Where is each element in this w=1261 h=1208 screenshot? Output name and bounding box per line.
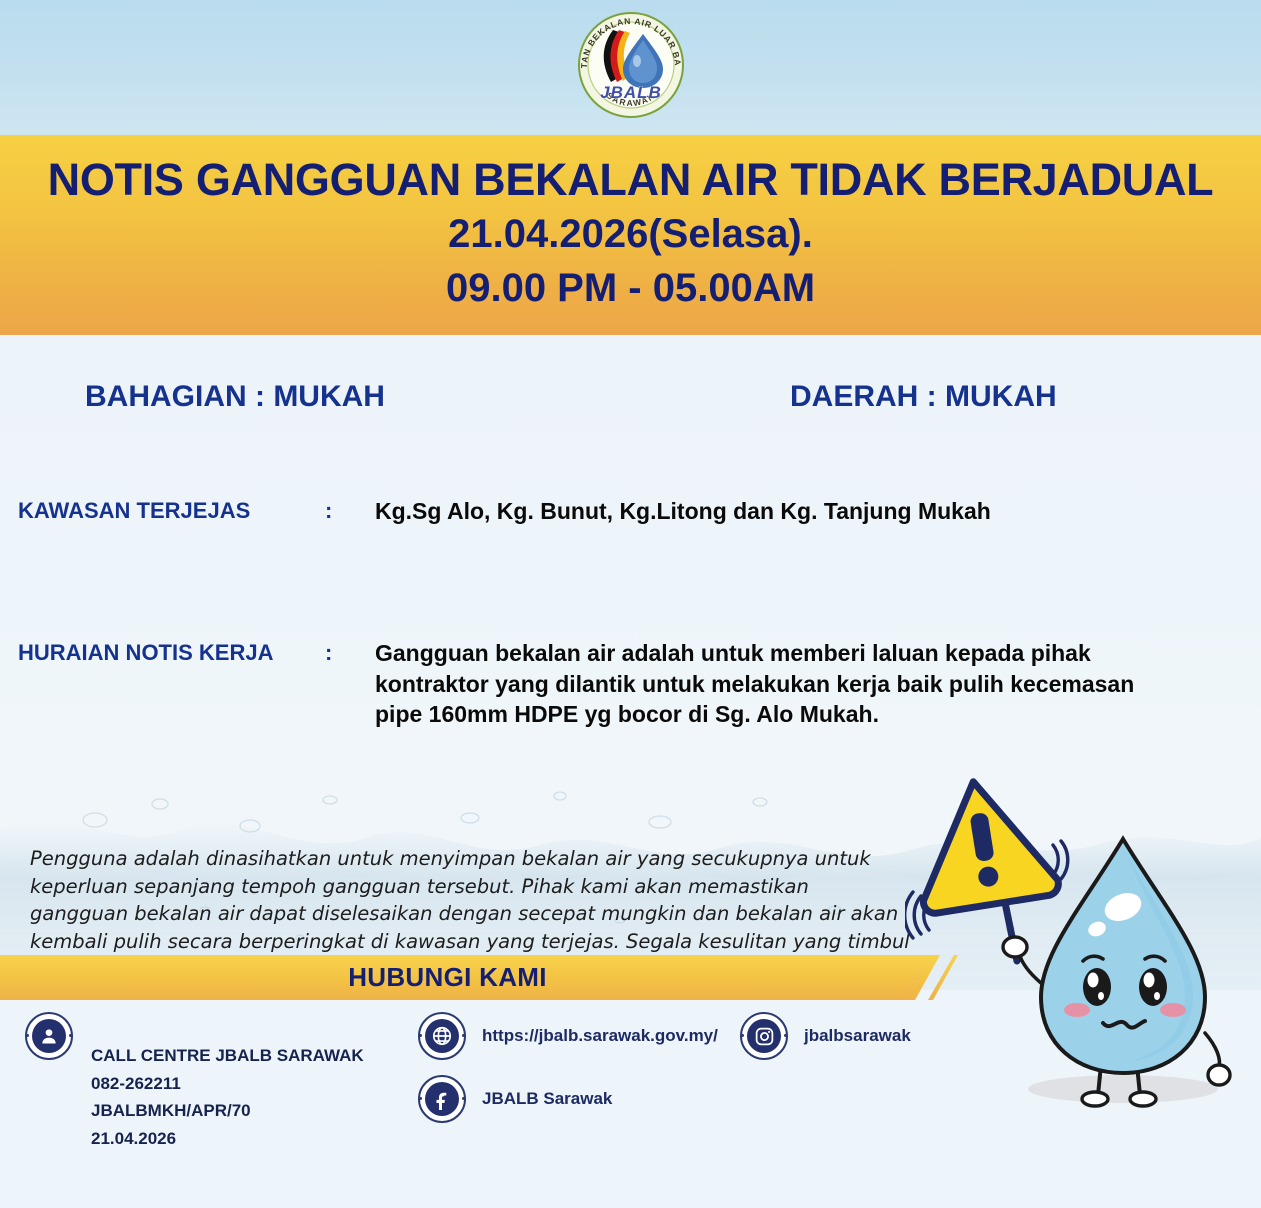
person-icon [25, 1012, 73, 1060]
notice-poster: JABATAN BEKALAN AIR LUAR BANDAR SARAWAK … [0, 0, 1261, 1208]
field-value: Kg.Sg Alo, Kg. Bunut, Kg.Litong dan Kg. … [375, 496, 1165, 527]
call-centre-title: CALL CENTRE JBALB SARAWAK [91, 1042, 364, 1070]
website-label: https://jbalb.sarawak.gov.my/ [482, 1026, 718, 1046]
call-centre-reference: JBALBMKH/APR/70 [91, 1097, 364, 1125]
notice-time: 09.00 PM - 05.00AM [446, 263, 815, 313]
field-colon: : [325, 498, 332, 524]
page-title: NOTIS GANGGUAN BEKALAN AIR TIDAK BERJADU… [48, 157, 1214, 203]
instagram-label: jbalbsarawak [804, 1026, 911, 1046]
region-row: BAHAGIAN : MUKAH DAERAH : MUKAH [0, 380, 1261, 420]
jbalb-logo: JABATAN BEKALAN AIR LUAR BANDAR SARAWAK … [571, 6, 691, 124]
facebook-label: JBALB Sarawak [482, 1089, 612, 1109]
globe-icon [418, 1012, 466, 1060]
contact-call-centre[interactable]: CALL CENTRE JBALB SARAWAK 082-262211 JBA… [25, 1012, 364, 1152]
title-band: NOTIS GANGGUAN BEKALAN AIR TIDAK BERJADU… [0, 135, 1261, 335]
call-centre-phone: 082-262211 [91, 1070, 364, 1098]
field-label: KAWASAN TERJEJAS [18, 498, 250, 524]
field-colon: : [325, 640, 332, 666]
svg-text:JBALB: JBALB [600, 83, 662, 102]
call-centre-date: 21.04.2026 [91, 1125, 364, 1153]
contact-website[interactable]: https://jbalb.sarawak.gov.my/ [418, 1012, 718, 1060]
facebook-icon [418, 1075, 466, 1123]
contact-instagram[interactable]: jbalbsarawak [740, 1012, 911, 1060]
notice-date: 21.04.2026(Selasa). [448, 209, 813, 259]
field-label: HURAIAN NOTIS KERJA [18, 640, 273, 666]
contact-banner-title: HUBUNGI KAMI [0, 955, 895, 1000]
field-value: Gangguan bekalan air adalah untuk member… [375, 638, 1165, 730]
bahagian-label: BAHAGIAN : MUKAH [85, 380, 385, 414]
logo-band: JABATAN BEKALAN AIR LUAR BANDAR SARAWAK … [0, 0, 1261, 135]
instagram-icon [740, 1012, 788, 1060]
daerah-label: DAERAH : MUKAH [790, 380, 1057, 414]
contacts-section: CALL CENTRE JBALB SARAWAK 082-262211 JBA… [0, 1000, 1261, 1208]
contact-facebook[interactable]: JBALB Sarawak [418, 1075, 612, 1123]
